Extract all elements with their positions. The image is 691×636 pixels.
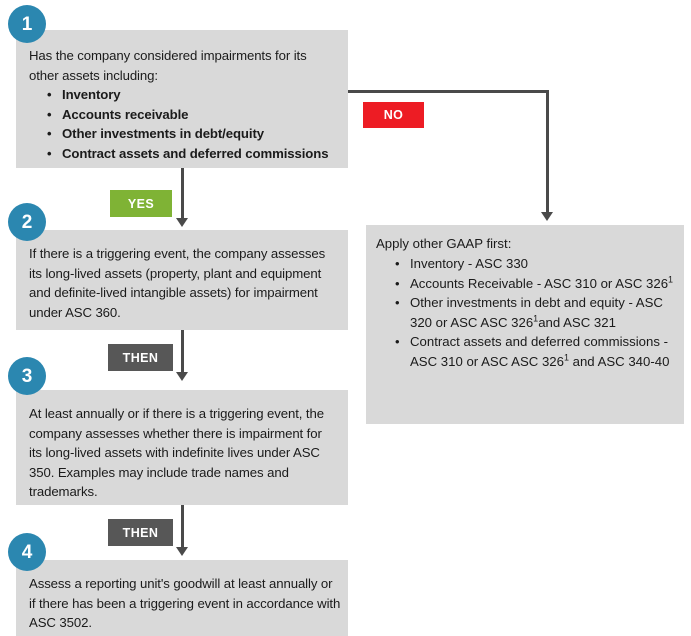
list-item: Accounts Receivable - ASC 310 or ASC 326… <box>386 274 676 294</box>
connector-then-1-vertical <box>181 330 184 372</box>
list-item: Inventory - ASC 330 <box>386 254 676 274</box>
badge-yes: YES <box>110 190 172 217</box>
panel-item-list: Inventory - ASC 330 Accounts Receivable … <box>386 254 676 371</box>
connector-then-2-vertical <box>181 505 184 547</box>
apply-other-gaap-panel: Apply other GAAP first: Inventory - ASC … <box>366 225 684 424</box>
connector-no-vertical <box>546 90 549 212</box>
step-4-intro: Assess a reporting unit's goodwill at le… <box>29 574 341 633</box>
panel-title: Apply other GAAP first: <box>376 234 511 254</box>
list-item: Other investments in debt and equity - A… <box>386 293 676 332</box>
step-number-badge-1: 1 <box>8 5 46 43</box>
step-1-bullet-list: Inventory Accounts receivable Other inve… <box>38 85 348 163</box>
step-box-2: If there is a triggering event, the comp… <box>16 230 348 330</box>
badge-no: NO <box>363 102 424 128</box>
connector-yes-vertical <box>181 168 184 218</box>
connector-then-2-arrowhead <box>176 547 188 556</box>
list-item: Other investments in debt/equity <box>38 124 348 144</box>
step-box-3: At least annually or if there is a trigg… <box>16 390 348 505</box>
list-item: Contract assets and deferred commissions <box>38 144 348 164</box>
badge-then-2: THEN <box>108 519 173 546</box>
step-box-4: Assess a reporting unit's goodwill at le… <box>16 560 348 636</box>
step-number-badge-3: 3 <box>8 357 46 395</box>
step-1-intro: Has the company considered impairments f… <box>29 46 339 85</box>
list-item: Inventory <box>38 85 348 105</box>
impairment-flowchart: Has the company considered impairments f… <box>0 0 691 636</box>
step-3-intro: At least annually or if there is a trigg… <box>29 404 337 502</box>
list-item: Accounts receivable <box>38 105 348 125</box>
step-box-1: Has the company considered impairments f… <box>16 30 348 168</box>
badge-then-1: THEN <box>108 344 173 371</box>
connector-then-1-arrowhead <box>176 372 188 381</box>
connector-no-arrowhead <box>541 212 553 221</box>
list-item: Contract assets and deferred commissions… <box>386 332 676 371</box>
step-2-intro: If there is a triggering event, the comp… <box>29 244 335 322</box>
step-number-badge-2: 2 <box>8 203 46 241</box>
connector-yes-arrowhead <box>176 218 188 227</box>
step-number-badge-4: 4 <box>8 533 46 571</box>
connector-no-horizontal <box>348 90 549 93</box>
